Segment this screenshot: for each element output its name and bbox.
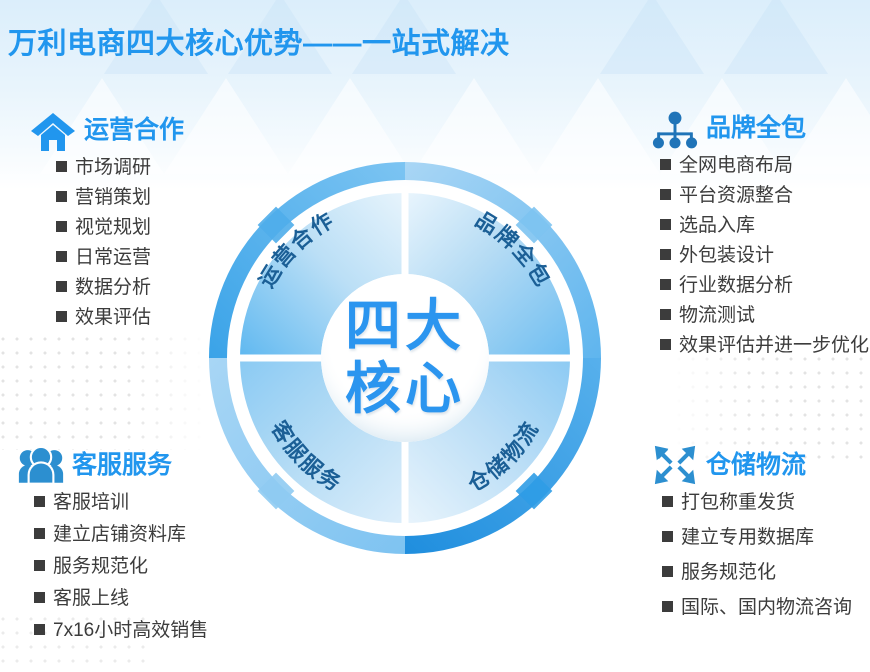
list-item: 数据分析 <box>56 278 184 297</box>
bullet-square <box>660 249 671 260</box>
list-item-label: 服务规范化 <box>681 563 776 582</box>
list-item: 行业数据分析 <box>660 276 869 295</box>
list-item-label: 全网电商布局 <box>679 156 793 175</box>
bullet-square <box>662 601 673 612</box>
bullet-square <box>34 560 45 571</box>
bullet-square <box>660 339 671 350</box>
donut-segments <box>233 186 577 530</box>
list-item-label: 日常运营 <box>75 248 151 267</box>
list-item-label: 建立专用数据库 <box>681 528 814 547</box>
list-item-label: 服务规范化 <box>53 557 148 576</box>
logistics-item-list: 打包称重发货 建立专用数据库 服务规范化 国际、国内物流咨询 <box>652 493 852 617</box>
bullet-square <box>660 189 671 200</box>
bullet-square <box>662 566 673 577</box>
block-header: 仓储物流 <box>652 443 852 487</box>
list-item: 国际、国内物流咨询 <box>662 598 852 617</box>
list-item: 7x16小时高效销售 <box>34 621 208 640</box>
list-item: 平台资源整合 <box>660 186 869 205</box>
users-icon <box>18 443 64 487</box>
list-item-label: 外包装设计 <box>679 246 774 265</box>
block-header: 客服服务 <box>18 443 208 487</box>
block-title: 品牌全包 <box>706 116 806 141</box>
block-header: 运营合作 <box>30 108 184 152</box>
list-item-label: 数据分析 <box>75 278 151 297</box>
four-arrows-icon <box>652 443 698 487</box>
block-warehouse-logistics: 仓储物流 打包称重发货 建立专用数据库 服务规范化 国际、国内物流咨询 <box>652 443 852 633</box>
bullet-square <box>34 528 45 539</box>
list-item-label: 效果评估 <box>75 308 151 327</box>
list-item: 打包称重发货 <box>662 493 852 512</box>
bullet-square <box>34 624 45 635</box>
bullet-square <box>56 251 67 262</box>
page-title: 万利电商四大核心优势——一站式解决 <box>8 20 510 62</box>
list-item: 服务规范化 <box>34 557 208 576</box>
list-item: 建立专用数据库 <box>662 528 852 547</box>
bullet-square <box>662 531 673 542</box>
list-item-label: 客服上线 <box>53 589 129 608</box>
list-item: 市场调研 <box>56 158 184 177</box>
bullet-square <box>34 592 45 603</box>
list-item-label: 7x16小时高效销售 <box>53 621 208 640</box>
list-item: 物流测试 <box>660 306 869 325</box>
bullet-square <box>660 309 671 320</box>
bullet-square <box>662 496 673 507</box>
list-item: 日常运营 <box>56 248 184 267</box>
bullet-square <box>660 279 671 290</box>
list-item-label: 国际、国内物流咨询 <box>681 598 852 617</box>
block-title: 运营合作 <box>84 118 184 143</box>
list-item-label: 客服培训 <box>53 493 129 512</box>
block-title: 客服服务 <box>72 453 172 478</box>
brand-item-list: 全网电商布局 平台资源整合 选品入库 外包装设计 行业数据分析 物流测试 效果评… <box>652 156 869 355</box>
bullet-square <box>660 219 671 230</box>
home-icon <box>30 108 76 152</box>
list-item-label: 平台资源整合 <box>679 186 793 205</box>
list-item: 服务规范化 <box>662 563 852 582</box>
list-item: 效果评估并进一步优化 <box>660 336 869 355</box>
list-item-label: 营销策划 <box>75 188 151 207</box>
block-title: 仓储物流 <box>706 453 806 478</box>
customer-service-item-list: 客服培训 建立店铺资料库 服务规范化 客服上线 7x16小时高效销售 <box>18 493 208 640</box>
list-item-label: 视觉规划 <box>75 218 151 237</box>
list-item: 营销策划 <box>56 188 184 207</box>
list-item: 客服上线 <box>34 589 208 608</box>
background-triangle <box>600 0 704 74</box>
block-header: 品牌全包 <box>652 106 869 150</box>
bullet-square <box>56 311 67 322</box>
operations-item-list: 市场调研 营销策划 视觉规划 日常运营 数据分析 效果评估 <box>30 158 184 327</box>
list-item-label: 选品入库 <box>679 216 755 235</box>
block-operations: 运营合作 市场调研 营销策划 视觉规划 日常运营 数据分析 效果评估 <box>30 108 184 338</box>
background-triangle <box>724 0 828 74</box>
list-item-label: 建立店铺资料库 <box>53 525 186 544</box>
bullet-square <box>56 191 67 202</box>
list-item: 客服培训 <box>34 493 208 512</box>
list-item: 选品入库 <box>660 216 869 235</box>
bullet-square <box>660 159 671 170</box>
list-item-label: 物流测试 <box>679 306 755 325</box>
list-item: 效果评估 <box>56 308 184 327</box>
core-donut-diagram: 运营合作 品牌全包 仓储物流 客服服务 四大 核心 <box>185 138 625 578</box>
list-item: 视觉规划 <box>56 218 184 237</box>
block-customer-service: 客服服务 客服培训 建立店铺资料库 服务规范化 客服上线 7x16小时高效销售 <box>18 443 208 653</box>
list-item-label: 打包称重发货 <box>681 493 795 512</box>
list-item: 外包装设计 <box>660 246 869 265</box>
list-item-label: 行业数据分析 <box>679 276 793 295</box>
infographic-canvas: 万利电商四大核心优势——一站式解决 <box>0 0 870 672</box>
list-item: 建立店铺资料库 <box>34 525 208 544</box>
bullet-square <box>56 281 67 292</box>
block-brand: 品牌全包 全网电商布局 平台资源整合 选品入库 外包装设计 行业数据分析 物流测… <box>652 106 869 366</box>
bullet-square <box>56 161 67 172</box>
list-item-label: 效果评估并进一步优化 <box>679 336 869 355</box>
bullet-square <box>34 496 45 507</box>
bullet-square <box>56 221 67 232</box>
dot-pattern <box>0 332 206 450</box>
list-item-label: 市场调研 <box>75 158 151 177</box>
org-chart-icon <box>652 106 698 150</box>
list-item: 全网电商布局 <box>660 156 869 175</box>
